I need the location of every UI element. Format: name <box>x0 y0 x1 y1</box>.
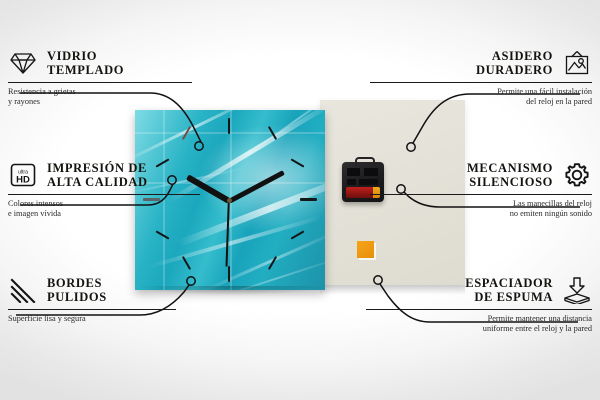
feature-title: VIDRIO TEMPLADO <box>47 49 124 77</box>
feature-title: ASIDERO DURADERO <box>476 49 553 77</box>
feature-desc-line2: e imagen vívida <box>8 209 61 218</box>
feature-description: Superficie lisa y segura <box>8 314 238 324</box>
feature-title-line2: SILENCIOSO <box>467 175 553 189</box>
feature-divider <box>8 309 176 310</box>
movement-detail <box>347 168 360 176</box>
feature-title-line1: BORDES <box>47 276 102 290</box>
feature-description: Permite una fácil instalación del reloj … <box>362 87 592 107</box>
feature-desc-line2: no emiten ningún sonido <box>510 209 592 218</box>
clock-tick-4 <box>291 230 305 239</box>
product-infographic: VIDRIO TEMPLADO Resistencia a grietas y … <box>0 0 600 400</box>
feature-header: MECANISMO SILENCIOSO <box>362 160 592 190</box>
svg-text:HD: HD <box>16 175 30 186</box>
feature-desc-line1: Colores intensos <box>8 199 63 208</box>
feature-description: Colores intensos e imagen vívida <box>8 199 238 219</box>
feature-title-line1: VIDRIO <box>47 49 97 63</box>
feature-asidero-duradero: ASIDERO DURADERO Permite una fácil insta… <box>362 48 592 107</box>
feature-description: Permite mantener una distancia uniforme … <box>362 314 592 334</box>
feature-desc-line1: Permite una fácil instalación <box>497 87 592 96</box>
feature-title: ESPACIADOR DE ESPUMA <box>465 276 553 304</box>
feature-divider <box>8 82 192 83</box>
feature-desc-line2: y rayones <box>8 97 40 106</box>
feature-desc-line1: Resistencia a grietas <box>8 87 76 96</box>
foam-spacer <box>357 241 374 258</box>
feature-title: BORDES PULIDOS <box>47 276 107 304</box>
feature-description: Resistencia a grietas y rayones <box>8 87 238 107</box>
feature-description: Las manecillas del reloj no emiten ningú… <box>362 199 592 219</box>
feature-header: VIDRIO TEMPLADO <box>8 48 238 78</box>
feature-desc-line2: uniforme entre el reloj y la pared <box>483 324 592 333</box>
feature-title-line1: ASIDERO <box>492 49 553 63</box>
foam-spacer-icon <box>562 275 592 305</box>
feature-header: BORDES PULIDOS <box>8 275 238 305</box>
feature-title-line2: TEMPLADO <box>47 63 124 77</box>
feature-divider <box>8 194 200 195</box>
feature-title-line2: DE ESPUMA <box>465 290 553 304</box>
feature-divider <box>366 309 592 310</box>
clock-tick-7 <box>182 256 191 270</box>
feature-title-line2: DURADERO <box>476 63 553 77</box>
feature-mecanismo-silencioso: MECANISMO SILENCIOSO Las manecillas del … <box>362 160 592 219</box>
feature-title-line1: MECANISMO <box>467 161 553 175</box>
ultra-hd-icon: ultra HD <box>8 160 38 190</box>
feature-desc-line2: del reloj en la pared <box>526 97 592 106</box>
feature-header: ESPACIADOR DE ESPUMA <box>362 275 592 305</box>
feature-impresion-alta-calidad: ultra HD IMPRESIÓN DE ALTA CALIDAD Color… <box>8 160 238 219</box>
glass-seam-horizontal <box>135 132 325 134</box>
feature-divider <box>370 194 592 195</box>
feature-divider <box>370 82 592 83</box>
feature-title: IMPRESIÓN DE ALTA CALIDAD <box>47 161 148 189</box>
diamond-icon <box>8 48 38 78</box>
gear-icon <box>562 160 592 190</box>
feature-title-line2: PULIDOS <box>47 290 107 304</box>
movement-detail <box>347 179 356 185</box>
feature-header: ultra HD IMPRESIÓN DE ALTA CALIDAD <box>8 160 238 190</box>
clock-tick-12 <box>228 118 230 134</box>
feature-desc-line1: Permite mantener una distancia <box>488 314 592 323</box>
clock-tick-3 <box>300 198 317 201</box>
clock-tick-2 <box>291 158 305 167</box>
feature-desc-line1: Superficie lisa y segura <box>8 314 86 323</box>
feature-bordes-pulidos: BORDES PULIDOS Superficie lisa y segura <box>8 275 238 324</box>
feature-title-line1: ESPACIADOR <box>465 276 553 290</box>
feature-header: ASIDERO DURADERO <box>362 48 592 78</box>
feature-title: MECANISMO SILENCIOSO <box>467 161 553 189</box>
feature-title-line2: ALTA CALIDAD <box>47 175 148 189</box>
feature-vidrio-templado: VIDRIO TEMPLADO Resistencia a grietas y … <box>8 48 238 107</box>
polished-edges-icon <box>8 275 38 305</box>
feature-espaciador-de-espuma: ESPACIADOR DE ESPUMA Permite mantener un… <box>362 275 592 334</box>
feature-title-line1: IMPRESIÓN DE <box>47 161 147 175</box>
feature-desc-line1: Las manecillas del reloj <box>513 199 592 208</box>
hanging-picture-icon <box>562 48 592 78</box>
